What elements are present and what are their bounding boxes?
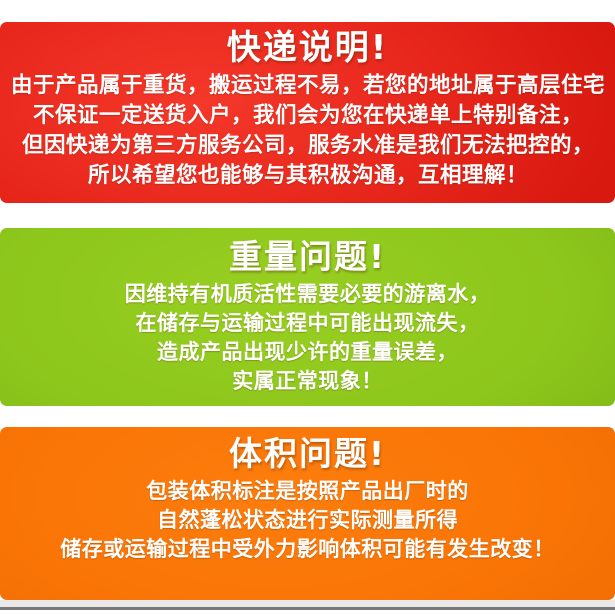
- notice-title-weight: 重量问题!: [0, 228, 615, 275]
- bottom-divider: [0, 607, 615, 610]
- notice-line: 所以希望您也能够与其积极沟通，互相理解！: [0, 161, 615, 191]
- notice-line: 在储存与运输过程中可能出现流失，: [0, 309, 615, 338]
- bottom-divider-soft: [0, 600, 615, 607]
- notice-line: 但因快递为第三方服务公司，服务水准是我们无法把控的，: [0, 131, 615, 161]
- notice-line: 实属正常现象！: [0, 367, 615, 396]
- shipping-notice-page: 快递说明! 由于产品属于重货，搬运过程不易，若您的地址属于高层住宅 不保证一定送…: [0, 0, 615, 615]
- notice-block-volume: 体积问题! 包装体积标注是按照产品出厂时的 自然蓬松状态进行实际测量所得 储存或…: [0, 427, 615, 600]
- notice-line: 造成产品出现少许的重量误差，: [0, 338, 615, 367]
- notice-title-volume: 体积问题!: [0, 427, 615, 472]
- notice-line: 由于产品属于重货，搬运过程不易，若您的地址属于高层住宅: [0, 71, 615, 101]
- notice-block-express: 快递说明! 由于产品属于重货，搬运过程不易，若您的地址属于高层住宅 不保证一定送…: [0, 22, 615, 203]
- notice-line: 因维持有机质活性需要必要的游离水，: [0, 280, 615, 309]
- notice-line: 储存或运输过程中受外力影响体积可能有发生改变！: [0, 535, 615, 564]
- notice-body-express: 由于产品属于重货，搬运过程不易，若您的地址属于高层住宅 不保证一定送货入户，我们…: [0, 71, 615, 191]
- notice-line: 自然蓬松状态进行实际测量所得: [0, 506, 615, 535]
- notice-body-volume: 包装体积标注是按照产品出厂时的 自然蓬松状态进行实际测量所得 储存或运输过程中受…: [0, 477, 615, 564]
- notice-line: 不保证一定送货入户，我们会为您在快递单上特别备注，: [0, 101, 615, 131]
- notice-line: 包装体积标注是按照产品出厂时的: [0, 477, 615, 506]
- notice-title-express: 快递说明!: [0, 22, 615, 67]
- notice-body-weight: 因维持有机质活性需要必要的游离水， 在储存与运输过程中可能出现流失， 造成产品出…: [0, 280, 615, 396]
- notice-block-weight: 重量问题! 因维持有机质活性需要必要的游离水， 在储存与运输过程中可能出现流失，…: [0, 228, 615, 406]
